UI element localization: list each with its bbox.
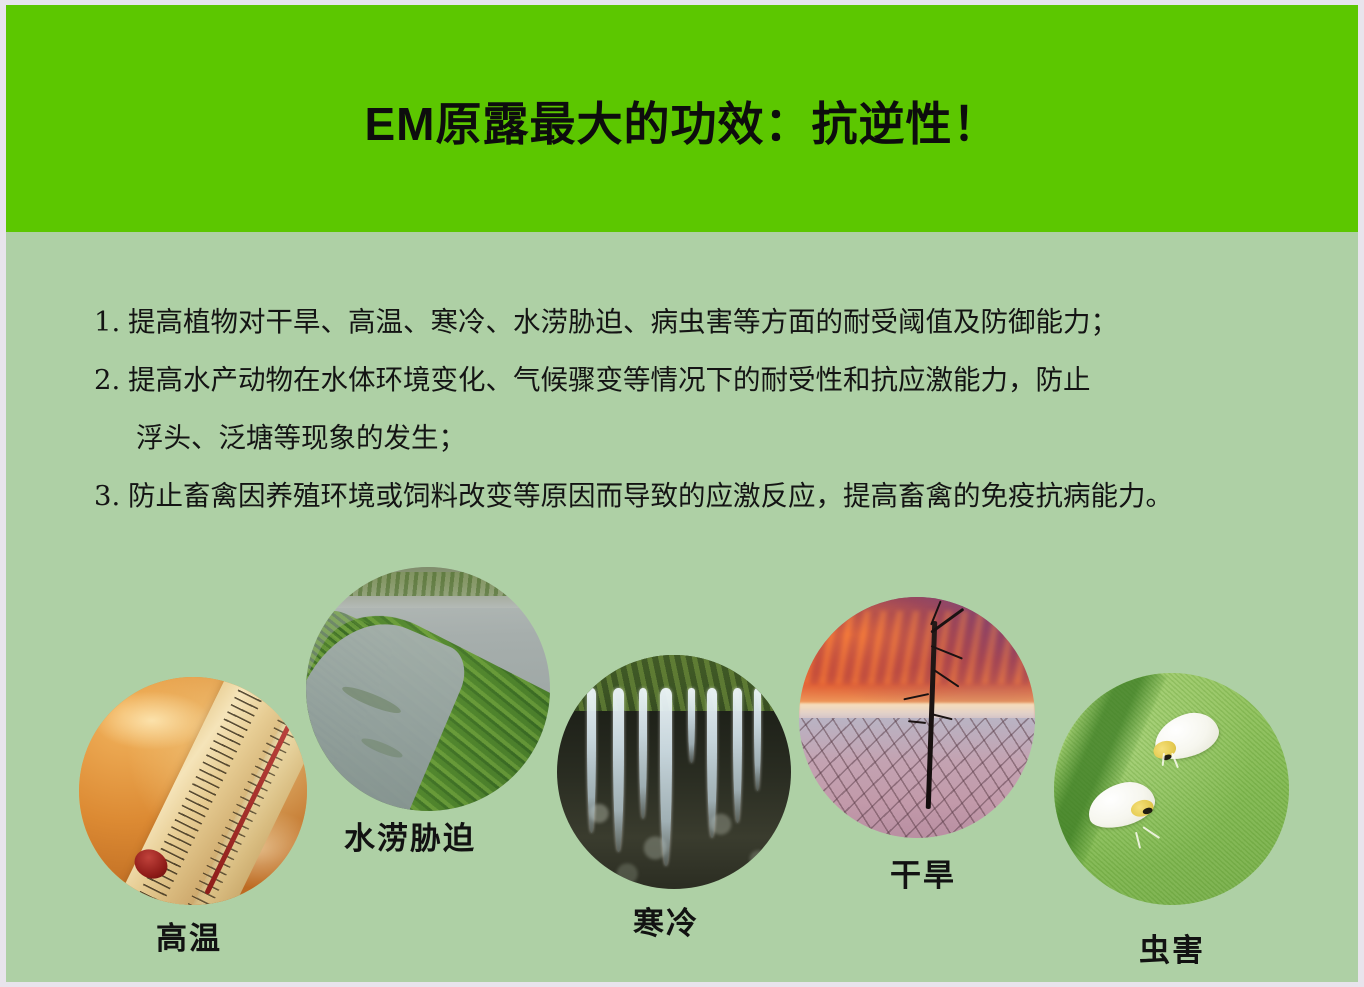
list-item: 1. 提高植物对干旱、高温、寒冷、水涝胁迫、病虫害等方面的耐受阈值及防御能力； — [94, 293, 1310, 351]
bullet-text-continued: 浮头、泛塘等现象的发生； — [94, 409, 1310, 467]
photo-caption-cold: 寒冷 — [633, 898, 699, 943]
photo-cold — [557, 655, 791, 889]
bullet-text: 提高水产动物在水体环境变化、气候骤变等情况下的耐受性和抗应激能力，防止 — [128, 351, 1310, 409]
bullet-number: 3. — [94, 467, 128, 525]
photo-waterlogging — [306, 567, 550, 811]
bullet-number: 2. — [94, 351, 128, 409]
page-title: EM原露最大的功效：抗逆性！ — [6, 101, 1358, 147]
slide: EM原露最大的功效：抗逆性！ 1. 提高植物对干旱、高温、寒冷、水涝胁迫、病虫害… — [6, 5, 1358, 982]
list-item: 3. 防止畜禽因养殖环境或饲料改变等原因而导致的应激反应，提高畜禽的免疫抗病能力… — [94, 467, 1310, 525]
title-banner: EM原露最大的功效：抗逆性！ — [6, 5, 1358, 232]
photo-caption-pest-damage: 虫害 — [1139, 925, 1205, 970]
photo-drought — [799, 597, 1035, 838]
bullet-text: 提高植物对干旱、高温、寒冷、水涝胁迫、病虫害等方面的耐受阈值及防御能力； — [128, 293, 1310, 351]
bullet-text: 防止畜禽因养殖环境或饲料改变等原因而导致的应激反应，提高畜禽的免疫抗病能力。 — [128, 467, 1310, 525]
photo-caption-high-temperature: 高温 — [156, 913, 222, 958]
photo-high-temperature — [79, 677, 307, 905]
bullet-number: 1. — [94, 293, 128, 351]
photo-caption-drought: 干旱 — [890, 850, 956, 895]
list-item: 2. 提高水产动物在水体环境变化、气候骤变等情况下的耐受性和抗应激能力，防止 — [94, 351, 1310, 409]
bullet-list: 1. 提高植物对干旱、高温、寒冷、水涝胁迫、病虫害等方面的耐受阈值及防御能力； … — [94, 293, 1310, 525]
photo-caption-waterlogging: 水涝胁迫 — [344, 813, 476, 858]
photo-pest-damage — [1054, 673, 1289, 905]
